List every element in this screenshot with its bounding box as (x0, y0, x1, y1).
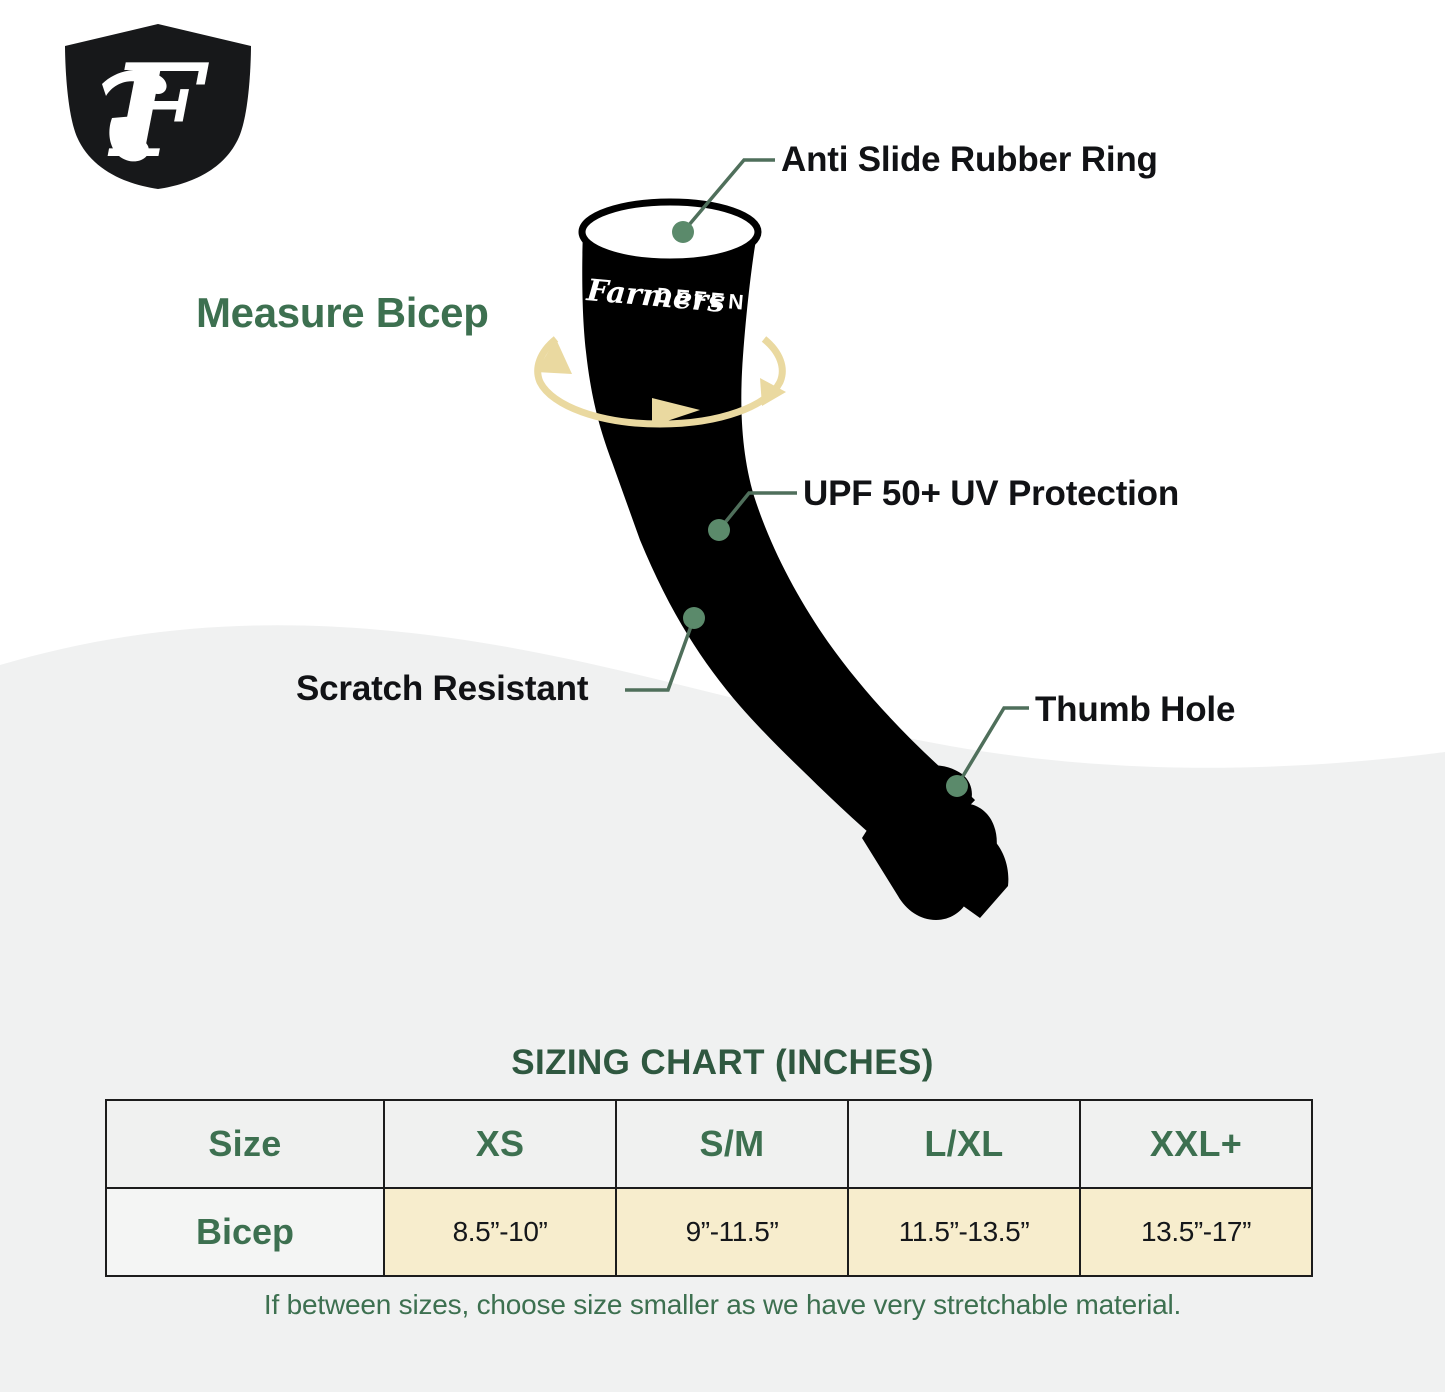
logo-letter-f: F (102, 37, 210, 187)
table-header-xxl: XXL+ (1080, 1100, 1312, 1188)
circular-measure-arrow-icon (536, 339, 786, 426)
dot-marker-upf (708, 519, 730, 541)
callout-leader-lines (625, 160, 1029, 786)
table-cell-bicep-xxl: 13.5”-17” (1080, 1188, 1312, 1276)
table-header-row: Size XS S/M L/XL XXL+ (106, 1100, 1312, 1188)
sizing-chart-note: If between sizes, choose size smaller as… (0, 1289, 1445, 1321)
dot-marker-scratch (683, 607, 705, 629)
table-cell-bicep-xs: 8.5”-10” (384, 1188, 616, 1276)
sleeve-brand-text: Farmers DEFENSE (584, 273, 784, 320)
table-header-xs: XS (384, 1100, 616, 1188)
table-header-size: Size (106, 1100, 384, 1188)
sizing-chart-table: Size XS S/M L/XL XXL+ Bicep 8.5”-10” 9”-… (105, 1099, 1313, 1277)
table-row-bicep: Bicep 8.5”-10” 9”-11.5” 11.5”-13.5” 13.5… (106, 1188, 1312, 1276)
dot-marker-thumb-hole (946, 775, 968, 797)
dot-marker-rubber-ring (672, 221, 694, 243)
table-cell-bicep-lxl: 11.5”-13.5” (848, 1188, 1080, 1276)
sleeve-silhouette (582, 202, 1008, 920)
table-header-sm: S/M (616, 1100, 848, 1188)
callout-label-thumb-hole: Thumb Hole (1035, 692, 1235, 727)
callout-label-scratch-resistant: Scratch Resistant (296, 671, 588, 706)
infographic-page: F Farmers DEFENSE (0, 0, 1445, 1392)
sleeve-script-label: Farmers (584, 273, 726, 320)
callout-label-upf-protection: UPF 50+ UV Protection (803, 476, 1179, 511)
sleeve-block-label: DEFENSE (656, 284, 785, 318)
shield-logo-icon: F (48, 14, 268, 199)
callout-label-anti-slide-rubber-ring: Anti Slide Rubber Ring (781, 142, 1158, 177)
table-header-lxl: L/XL (848, 1100, 1080, 1188)
sizing-chart-title: SIZING CHART (INCHES) (0, 1043, 1445, 1083)
measure-bicep-label: Measure Bicep (196, 292, 489, 334)
table-cell-bicep-sm: 9”-11.5” (616, 1188, 848, 1276)
table-row-label-bicep: Bicep (106, 1188, 384, 1276)
svg-text:F: F (108, 37, 210, 187)
